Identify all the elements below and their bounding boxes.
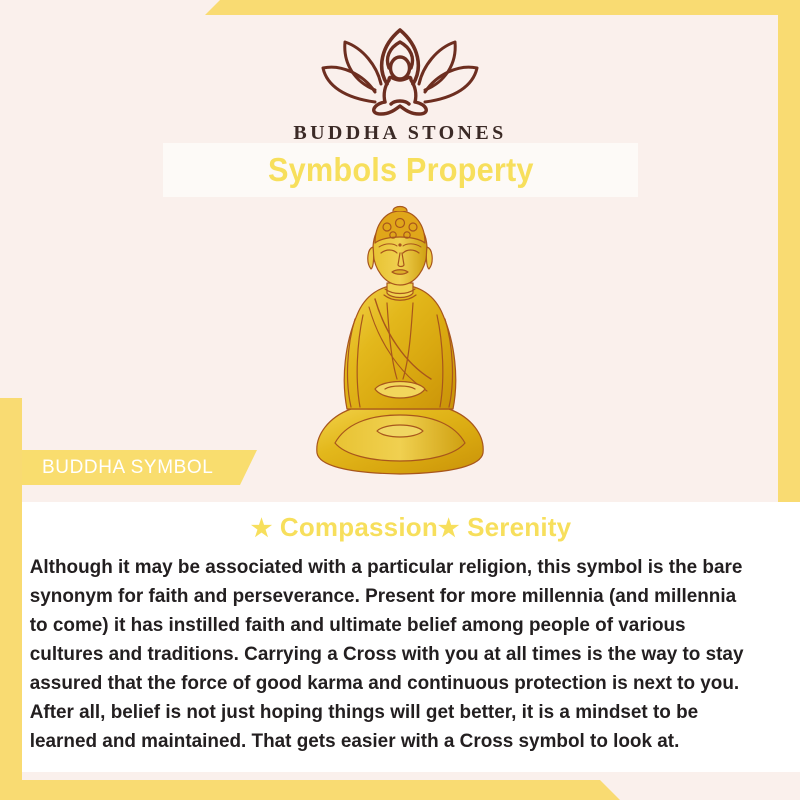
decorative-left-strip xyxy=(0,398,22,788)
buddha-symbol-ribbon: BUDDHA SYMBOL xyxy=(22,450,257,485)
star-icon-first: ★ xyxy=(251,515,273,542)
lotus-meditation-icon xyxy=(315,24,485,116)
content-subheading: ★ Compassion★ Serenity xyxy=(22,502,800,543)
content-panel: ★ Compassion★ Serenity Although it may b… xyxy=(22,502,800,772)
seated-golden-buddha-illustration xyxy=(305,203,495,493)
promo-graphic-page: BUDDHA STONES Symbols Property xyxy=(0,0,800,800)
page-title: Symbols Property xyxy=(268,151,534,189)
hero-image-buddha xyxy=(305,203,495,493)
subheading-compassion: Compassion xyxy=(280,512,438,542)
decorative-top-band xyxy=(0,0,800,15)
title-band: Symbols Property xyxy=(163,143,638,197)
brand-name: BUDDHA STONES xyxy=(0,122,800,145)
brand-logo: BUDDHA STONES xyxy=(0,24,800,145)
subheading-serenity: Serenity xyxy=(467,512,571,542)
star-icon-second: ★ xyxy=(438,515,460,542)
decorative-bottom-band xyxy=(0,780,640,800)
body-paragraph: Although it may be associated with a par… xyxy=(22,543,777,756)
ribbon-label: BUDDHA SYMBOL xyxy=(22,457,213,479)
